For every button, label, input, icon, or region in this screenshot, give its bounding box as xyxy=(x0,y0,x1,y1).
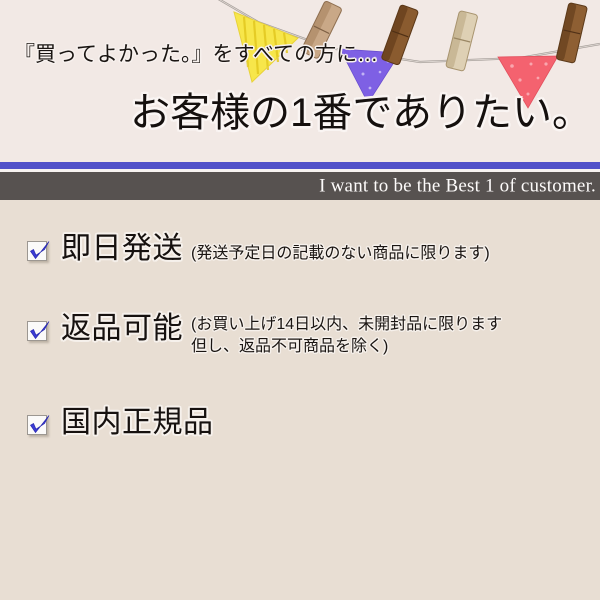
checked-checkbox-icon xyxy=(26,239,51,264)
hero-section: 『買ってよかった。』をすべての方に… お客様の1番でありたい。 xyxy=(0,0,600,162)
clothespin-3 xyxy=(446,10,478,71)
english-tagline: I want to be the Best 1 of customer. xyxy=(319,177,596,196)
clothespin-4 xyxy=(556,3,588,64)
english-tagline-band: I want to be the Best 1 of customer. xyxy=(0,172,600,200)
feature-item-returnable: 返品可能 (お買い上げ14日以内、未開封品に限ります 但し、返品不可商品を除く) xyxy=(26,312,502,357)
checked-checkbox-icon xyxy=(26,413,51,438)
clothespin-2 xyxy=(381,4,419,65)
feature-title: 国内正規品 xyxy=(61,408,214,438)
hero-tagline: 『買ってよかった。』をすべての方に… xyxy=(14,44,378,65)
feature-note: (発送予定日の記載のない商品に限ります) xyxy=(191,243,490,265)
checked-checkbox-icon xyxy=(26,319,51,344)
feature-section: 即日発送 (発送予定日の記載のない商品に限ります) 返品可能 (お買い上げ14日… xyxy=(0,200,600,600)
promotional-banner: 『買ってよかった。』をすべての方に… お客様の1番でありたい。 I want t… xyxy=(0,0,600,600)
feature-item-domestic-genuine: 国内正規品 xyxy=(26,406,214,438)
hero-headline: お客様の1番でありたい。 xyxy=(130,93,592,133)
accent-rule xyxy=(0,162,600,169)
feature-item-same-day-shipping: 即日発送 (発送予定日の記載のない商品に限ります) xyxy=(26,232,490,265)
feature-title: 即日発送 xyxy=(61,234,183,264)
feature-title: 返品可能 xyxy=(61,314,183,344)
feature-note: (お買い上げ14日以内、未開封品に限ります 但し、返品不可商品を除く) xyxy=(191,314,502,357)
